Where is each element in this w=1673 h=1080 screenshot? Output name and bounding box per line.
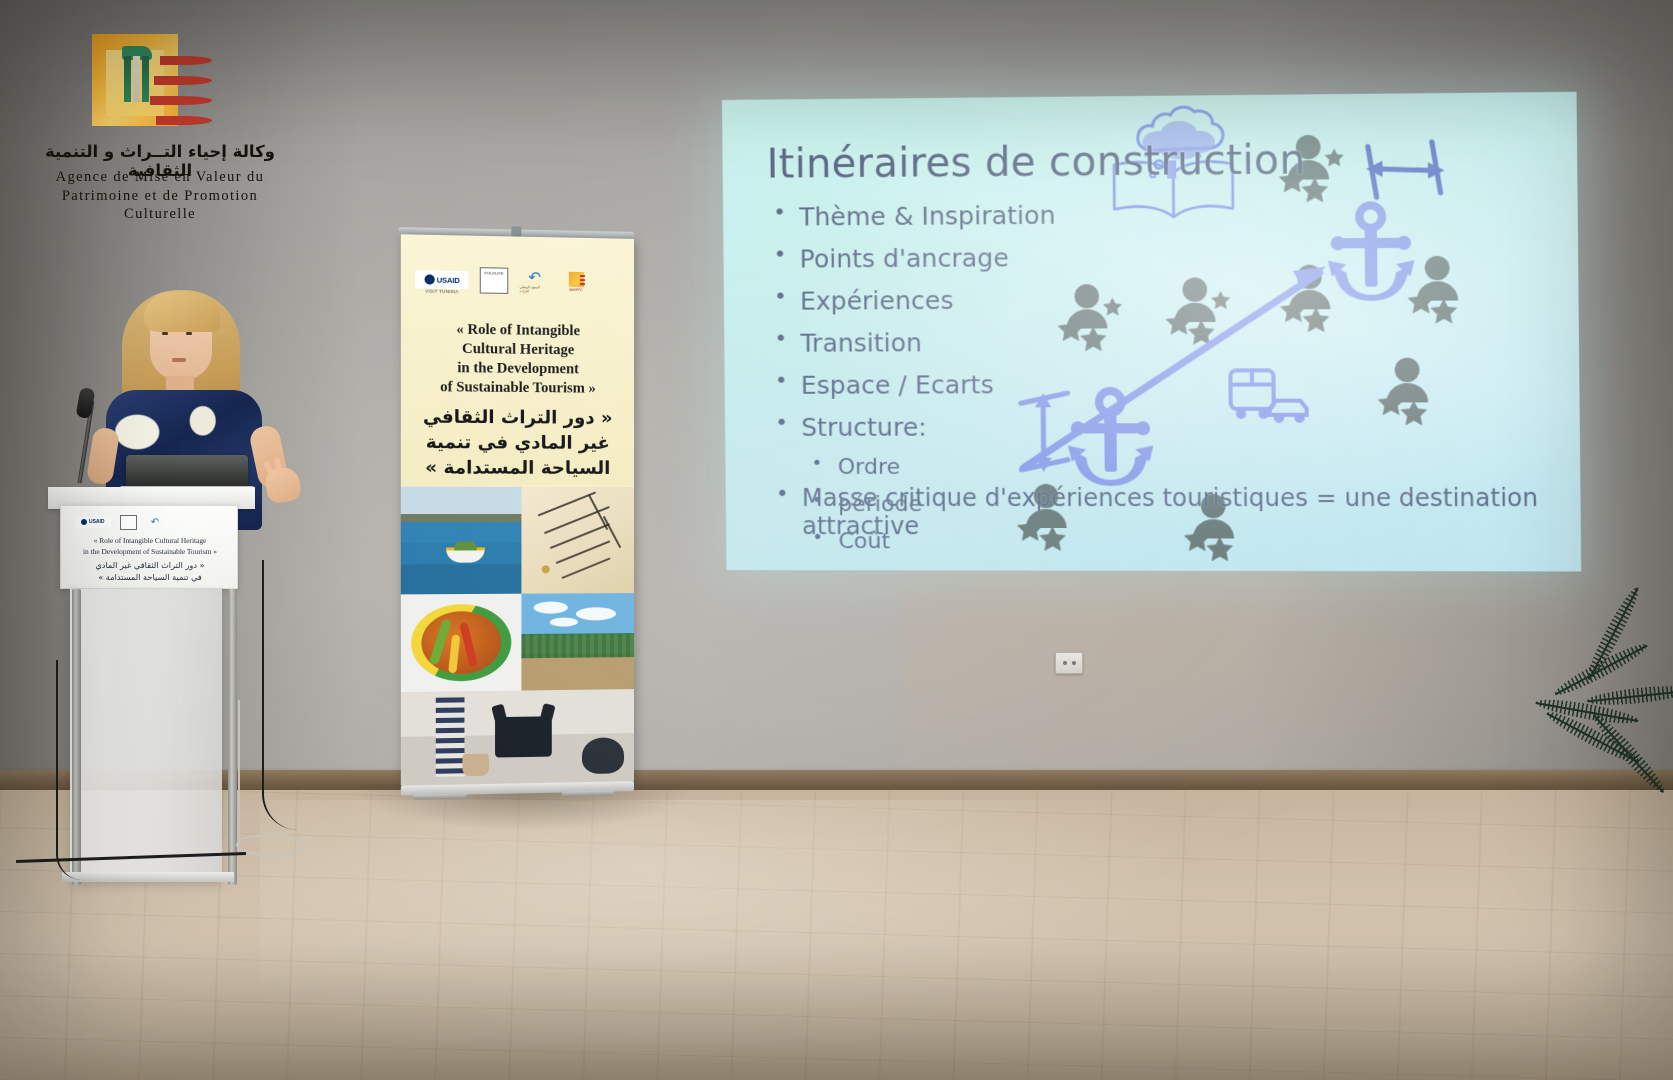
banner-title-arabic: « دور التراث الثقافي غير المادي في تنمية…: [411, 405, 624, 481]
logo-column-white: [133, 56, 140, 102]
usaid-logo-label: USAID: [89, 519, 105, 525]
presenter-eye-left: [162, 332, 168, 335]
logo-wave-1: [160, 56, 212, 65]
presenter-eye-right: [186, 332, 192, 335]
slide-bullet: Points d'ancrage: [763, 240, 1476, 273]
palm-frond: [1587, 683, 1673, 709]
amvppc-logo: وكالة إحياء التــراث و التنمية الثقافية …: [24, 30, 296, 200]
rollup-banner: USAID VISIT TUNISIA FOLKLIFE ↶ المعهد ال…: [393, 227, 639, 797]
wall-socket: [1055, 652, 1083, 674]
usaid-logo-sub: VISIT TUNISIA: [415, 288, 468, 294]
logo-column-green-right: [142, 56, 149, 102]
banner-title-ar-line: السياحة المستدامة »: [411, 456, 624, 482]
podium-sign-english: « Role of Intangible Cultural Heritage i…: [67, 536, 233, 557]
banner-title-ar-line: « دور التراث الثقافي: [411, 405, 624, 431]
banner-title-en-line: « Role of Intangible: [411, 320, 624, 342]
institut-national-patrimoine-logo: ↶ المعهد الوطني للتراث: [519, 268, 549, 295]
banner-title-en-line: Cultural Heritage: [411, 339, 624, 361]
podium-post-right: [228, 589, 237, 885]
slide-bullet: Transition: [764, 326, 1477, 358]
dark-vase: [582, 737, 624, 774]
banner-title-ar-line: غير المادي في تنمية: [411, 430, 624, 456]
cable-grey-1: [238, 700, 280, 850]
usaid-seal-icon: [424, 274, 434, 284]
floor-glare: [260, 800, 1220, 1070]
smithsonian-folklife-logo: FOLKLIFE: [480, 267, 508, 294]
folklife-logo-label: FOLKLIFE: [484, 270, 503, 275]
photo-tunisian-dish: [401, 594, 522, 692]
logo-wave-3: [150, 96, 212, 105]
podium-sign: USAID ↶ « Role of Intangible Cultural He…: [60, 505, 238, 589]
logo-wave-4: [156, 116, 212, 125]
banner-title-en-line: in the Development: [411, 358, 624, 379]
boat-shape: [446, 547, 485, 562]
podium-body: [70, 589, 222, 881]
presenter-hand: [264, 466, 302, 504]
slide-bullet: Structure:: [765, 411, 1478, 442]
banner-photo-collage: [401, 487, 634, 786]
photo-palm-oasis: [521, 593, 634, 690]
sea-horizon-land: [401, 514, 522, 522]
patterned-textile: [436, 697, 465, 777]
usaid-logo: USAID: [75, 517, 111, 528]
amvppc-logo: [173, 515, 189, 530]
logo-wave-2: [154, 76, 212, 85]
usaid-logo-label: USAID: [437, 275, 460, 285]
amvppc-logo-french: Agence de Mise en Valeur du Patrimoine e…: [24, 168, 296, 224]
slide-sub-bullet: Ordre: [765, 454, 1478, 480]
photo-pottery-artifacts: [401, 689, 634, 786]
amvppc-logo-square-icon: [568, 272, 583, 287]
palm-grove-band: [521, 633, 634, 658]
slide-bullet: Expériences: [764, 283, 1477, 316]
banner-leg-right: [562, 791, 614, 797]
banner-panel: USAID VISIT TUNISIA FOLKLIFE ↶ المعهد ال…: [401, 234, 634, 785]
podium-sign-en-line: « Role of Intangible Cultural Heritage: [67, 536, 233, 547]
usaid-logo: USAID VISIT TUNISIA: [415, 270, 468, 289]
photo-boat-sea: [401, 487, 522, 595]
ceramic-animal-figurine: [495, 716, 552, 757]
amvppc-logo-french-line1: Agence de Mise en Valeur du: [24, 168, 296, 187]
inp-logo-mark-icon: ↶: [528, 270, 541, 285]
banner-logo-row: USAID VISIT TUNISIA FOLKLIFE ↶ المعهد ال…: [415, 263, 624, 299]
podium-sign-ar-line: « دور التراث الثقافي غير المادي: [67, 560, 233, 572]
presentation-photo: وكالة إحياء التــراث و التنمية الثقافية …: [0, 0, 1673, 1080]
podium-base: [62, 872, 234, 882]
logo-column-green-left: [124, 56, 131, 102]
amvppc-logo-label: AMVPPC: [569, 288, 583, 292]
banner-title-english: « Role of Intangible Cultural Heritage i…: [411, 320, 624, 398]
photo-arabic-calligraphy: [521, 487, 634, 594]
amvppc-logo-mark: [92, 30, 210, 138]
laptop[interactable]: [126, 455, 248, 487]
potted-palm: [1491, 600, 1673, 800]
smithsonian-folklife-logo: [120, 515, 137, 530]
slide-title: Itinéraires de construction: [766, 137, 1305, 188]
institut-national-patrimoine-logo: ↶: [146, 515, 164, 530]
cable-coil: [236, 834, 306, 856]
slide-conclusion: Masse critique d'expériences touristique…: [766, 484, 1582, 541]
slide-bullet: Espace / Ecarts: [765, 369, 1478, 400]
cable-black-2: [56, 660, 82, 880]
podium-sign-ar-line: في تنمية السياحة المستدامة »: [67, 572, 233, 584]
projected-slide: Itinéraires de construction Thème & Insp…: [722, 92, 1581, 572]
podium-sign-logo-row: USAID ↶: [75, 514, 225, 530]
amvppc-logo-banner: AMVPPC: [561, 269, 591, 296]
podium-sign-en-line: in the Development of Sustainable Touris…: [67, 547, 233, 558]
ceramic-pot: [462, 754, 489, 777]
slide-bullet: Thème & Inspiration: [763, 198, 1476, 232]
inp-logo-label: المعهد الوطني للتراث: [519, 285, 549, 294]
presenter-hair-front: [144, 292, 220, 332]
banner-title-en-line: of Sustainable Tourism »: [411, 377, 624, 398]
amvppc-logo-french-line2: Patrimoine et de Promotion Culturelle: [24, 187, 296, 224]
usaid-seal-icon: [81, 519, 87, 525]
presenter-mouth: [172, 358, 186, 362]
podium-sign-arabic: « دور التراث الثقافي غير المادي في تنمية…: [67, 560, 233, 583]
